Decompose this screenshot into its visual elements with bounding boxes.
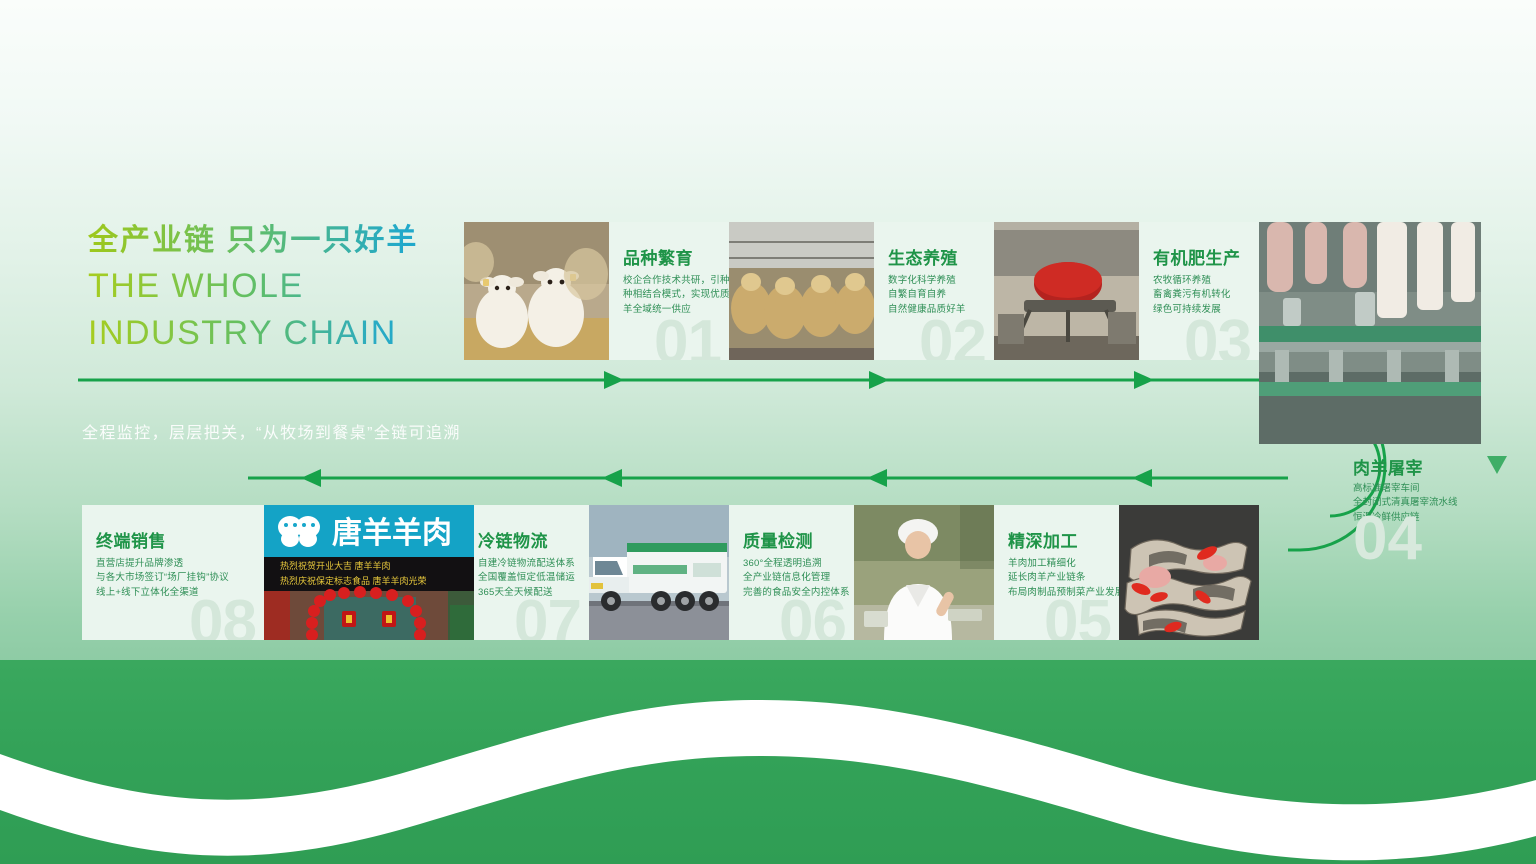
step-line: 数字化科学养殖 — [888, 274, 986, 288]
step-line: 全产业链信息化管理 — [743, 571, 846, 585]
step-line: 与各大市场签订“场厂挂钩”协议 — [96, 571, 256, 585]
slaughter-line-photo — [1259, 222, 1481, 444]
step-card-06[interactable]: 质量检测 360°全程透明追溯 全产业链信息化管理 完善的食品安全内控体系 06 — [729, 505, 994, 640]
step-line: 自建冷链物流配送体系 — [478, 557, 581, 571]
step-card-01[interactable]: 品种繁育 校企合作技术共研，引种育 种相结合模式，实现优质羔 羊全域统一供应 0… — [464, 222, 729, 360]
step-number: 07 — [514, 592, 581, 640]
step-title: 精深加工 — [1008, 527, 1078, 552]
step-number: 03 — [1184, 312, 1251, 360]
headline-english-line1: THE WHOLE — [88, 266, 488, 307]
step-line: 羊肉加工精细化 — [1008, 557, 1111, 571]
step-number: 06 — [779, 592, 846, 640]
step-title: 冷链物流 — [478, 527, 548, 552]
step-title: 肉羊屠宰 — [1353, 454, 1423, 479]
subtitle-text: 全程监控，层层把关，“从牧场到餐桌”全链可追溯 — [82, 419, 461, 443]
step-line: 直营店提升品牌渗透 — [96, 557, 256, 571]
step-card-08-pane: 终端销售 直营店提升品牌渗透 与各大市场签订“场厂挂钩”协议 线上+线下立体化全… — [82, 505, 264, 640]
refrigerated-truck-photo — [589, 505, 729, 640]
step-line: 高标准屠宰车间 — [1353, 482, 1458, 496]
step-card-05-pane: 精深加工 羊肉加工精细化 延长肉羊产业链条 布局肉制品预制菜产业发展 05 — [994, 505, 1119, 640]
step-card-03[interactable]: 有机肥生产 农牧循环养殖 畜禽粪污有机转化 绿色可持续发展 03 — [994, 222, 1259, 360]
step-number: 08 — [189, 592, 256, 640]
step-line: 360°全程透明追溯 — [743, 557, 846, 571]
step-card-04[interactable]: 肉羊屠宰 高标准屠宰车间 全封闭式清真屠宰流水线 恒温冷鲜供应链 04 — [1349, 448, 1519, 568]
step-number: 05 — [1044, 592, 1111, 640]
fertilizer-machinery-photo — [994, 222, 1139, 360]
step-card-07[interactable]: 冷链物流 自建冷链物流配送体系 全国覆盖恒定低温储运 365天全天候配送 07 — [464, 505, 729, 640]
step-card-03-pane: 有机肥生产 农牧循环养殖 畜禽粪污有机转化 绿色可持续发展 03 — [1139, 222, 1259, 360]
step-title: 终端销售 — [96, 527, 166, 552]
step-card-02[interactable]: 生态养殖 数字化科学养殖 自繁自育自养 自然健康品质好羊 02 — [729, 222, 994, 360]
lambs-in-pen-photo — [464, 222, 609, 360]
step-number: 04 — [1353, 508, 1422, 570]
step-card-08[interactable]: 终端销售 直营店提升品牌渗透 与各大市场签订“场厂挂钩”协议 线上+线下立体化全… — [82, 505, 474, 640]
step-line: 自繁自育自养 — [888, 288, 986, 302]
step-card-02-pane: 生态养殖 数字化科学养殖 自繁自育自养 自然健康品质好羊 02 — [874, 222, 994, 360]
svg-text:热烈祝贺开业大吉 唐羊羊肉: 热烈祝贺开业大吉 唐羊羊肉 — [280, 560, 391, 571]
headline-chinese: 全产业链 只为一只好羊 — [88, 222, 488, 260]
step-line: 农牧循环养殖 — [1153, 274, 1251, 288]
step-number: 01 — [654, 312, 721, 360]
step-title: 生态养殖 — [888, 244, 958, 269]
step-card-01-pane: 品种繁育 校企合作技术共研，引种育 种相结合模式，实现优质羔 羊全域统一供应 0… — [609, 222, 729, 360]
processed-mutton-dish-photo — [1119, 505, 1259, 640]
step-card-07-pane: 冷链物流 自建冷链物流配送体系 全国覆盖恒定低温储运 365天全天候配送 07 — [464, 505, 589, 640]
storefront-sign-text: 唐羊羊肉 — [332, 516, 452, 550]
infographic-canvas: 全产业链 只为一只好羊 THE WHOLE INDUSTRY CHAIN 全程监… — [0, 0, 1536, 864]
step-line: 畜禽粪污有机转化 — [1153, 288, 1251, 302]
step-title: 有机肥生产 — [1153, 244, 1241, 269]
sheep-barn-photo — [729, 222, 874, 360]
headline-english-line2: INDUSTRY CHAIN — [88, 313, 488, 354]
step-line: 延长肉羊产业链条 — [1008, 571, 1111, 585]
wave-ribbon — [0, 640, 1536, 864]
step-title: 品种繁育 — [623, 244, 693, 269]
retail-storefront-photo: 唐羊羊肉 热烈祝贺开业大吉 唐羊羊肉 热烈庆祝保定标志食品 唐羊羊肉光荣 — [264, 505, 474, 640]
step-line: 全国覆盖恒定低温储运 — [478, 571, 581, 585]
lab-inspector-photo — [854, 505, 994, 640]
step-title: 质量检测 — [743, 527, 813, 552]
step-card-06-pane: 质量检测 360°全程透明追溯 全产业链信息化管理 完善的食品安全内控体系 06 — [729, 505, 854, 640]
step-card-05[interactable]: 精深加工 羊肉加工精细化 延长肉羊产业链条 布局肉制品预制菜产业发展 05 — [994, 505, 1259, 640]
headline-block: 全产业链 只为一只好羊 THE WHOLE INDUSTRY CHAIN — [88, 222, 488, 354]
svg-text:热烈庆祝保定标志食品 唐羊羊肉光荣: 热烈庆祝保定标志食品 唐羊羊肉光荣 — [280, 575, 427, 586]
step-line: 种相结合模式，实现优质羔 — [623, 288, 721, 302]
step-line: 校企合作技术共研，引种育 — [623, 274, 721, 288]
step-number: 02 — [919, 312, 986, 360]
